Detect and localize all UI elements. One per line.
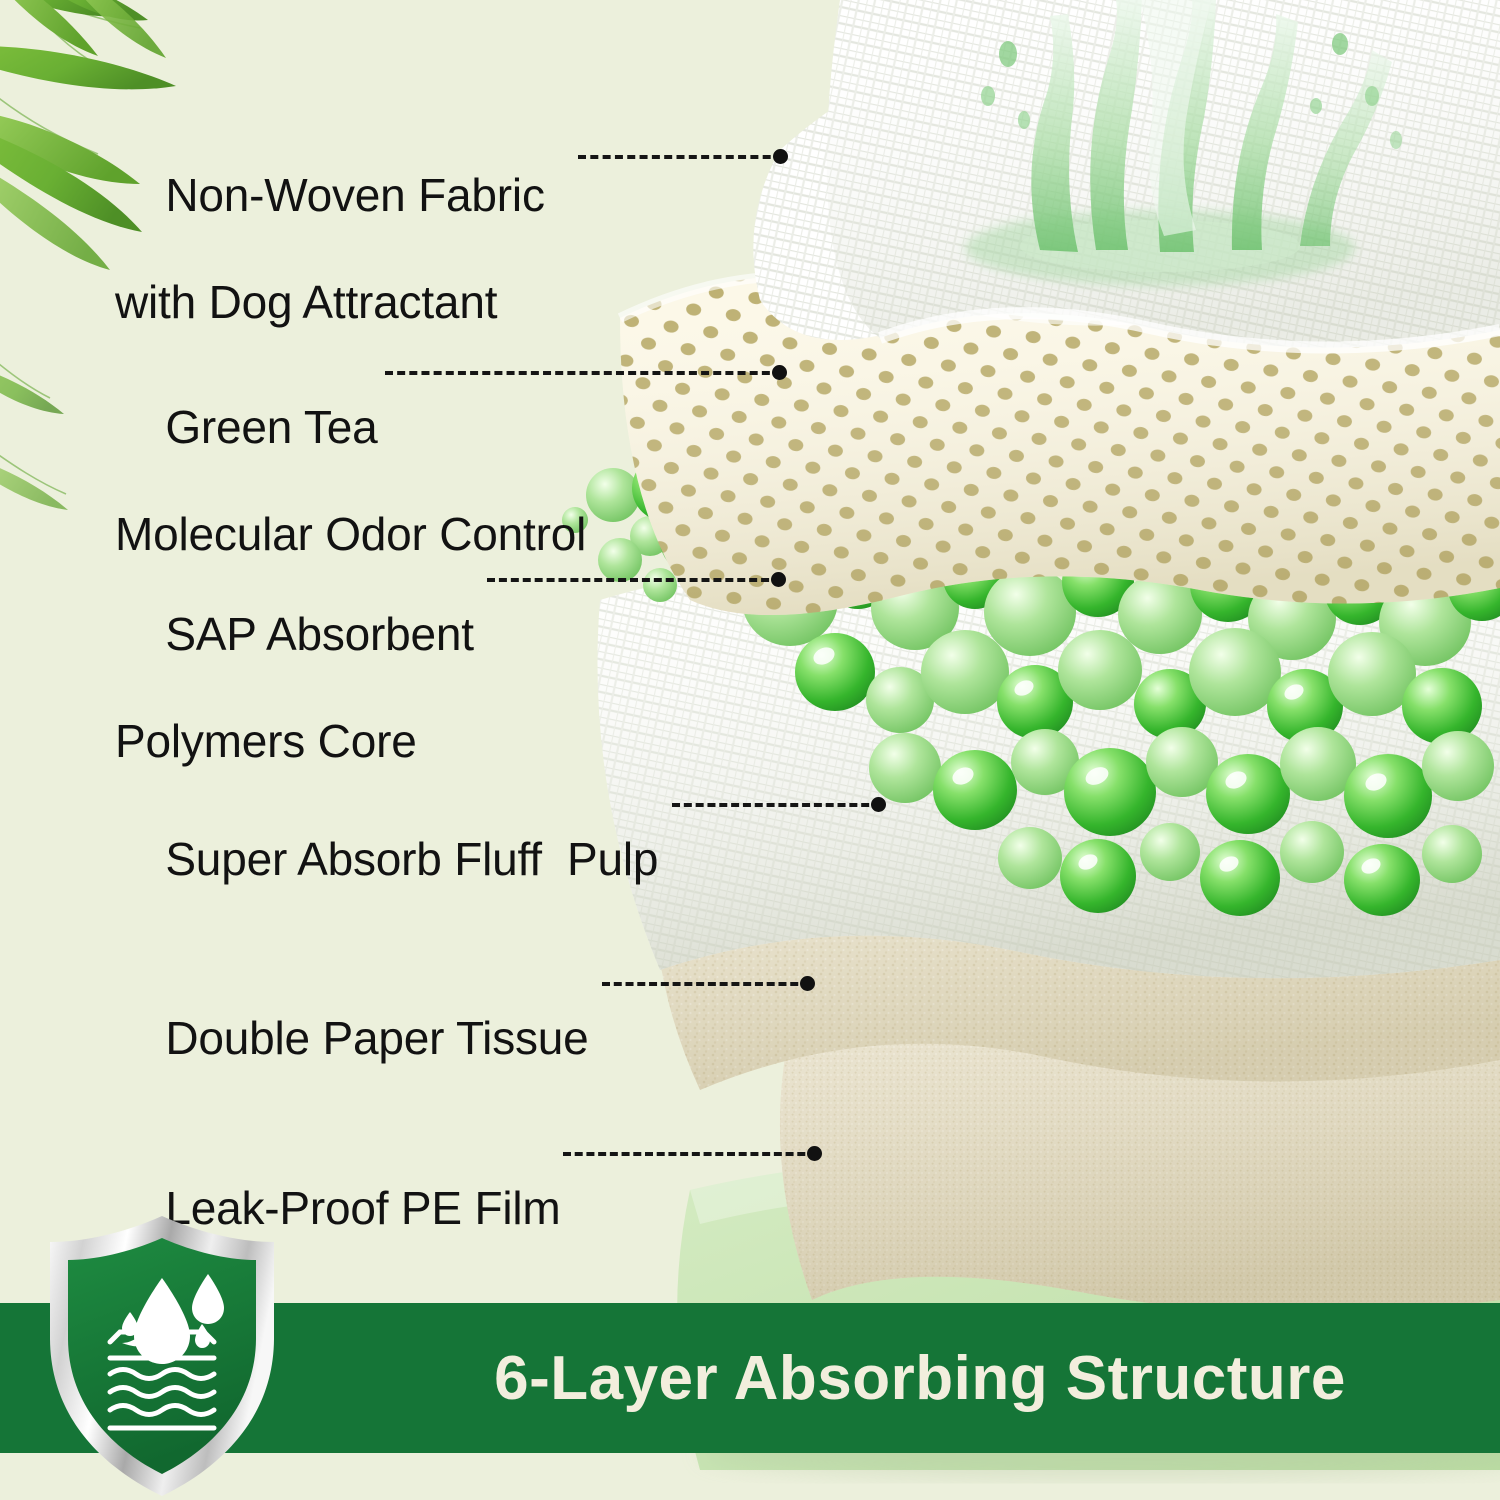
leader-line-fluff-pulp bbox=[672, 803, 881, 807]
label-fluff-pulp-line1: Super Absorb Fluff Pulp bbox=[165, 833, 658, 885]
label-green-tea-line2: Molecular Odor Control bbox=[115, 508, 586, 561]
label-double-paper-tissue: Double Paper Tissue bbox=[115, 959, 589, 1119]
waterproof-shield-badge bbox=[42, 1212, 282, 1500]
layer-non-woven-fabric bbox=[753, 0, 1500, 348]
label-green-tea-line1: Green Tea bbox=[165, 401, 377, 453]
label-non-woven-fabric-line1: Non-Woven Fabric bbox=[165, 169, 544, 221]
label-non-woven-fabric-line2: with Dog Attractant bbox=[115, 276, 545, 329]
label-sap-line2: Polymers Core bbox=[115, 715, 474, 768]
label-paper-tissue-line1: Double Paper Tissue bbox=[165, 1012, 588, 1064]
leader-line-non-woven-fabric bbox=[578, 155, 783, 159]
label-super-absorb-fluff-pulp: Super Absorb Fluff Pulp bbox=[115, 780, 658, 940]
infographic-canvas: Non-Woven Fabric with Dog Attractant Gre… bbox=[0, 0, 1500, 1500]
banner-title: 6-Layer Absorbing Structure bbox=[360, 1303, 1480, 1453]
label-sap-line1: SAP Absorbent bbox=[165, 608, 474, 660]
leader-line-pe-film bbox=[563, 1152, 817, 1156]
leader-line-paper-tissue bbox=[602, 982, 810, 986]
